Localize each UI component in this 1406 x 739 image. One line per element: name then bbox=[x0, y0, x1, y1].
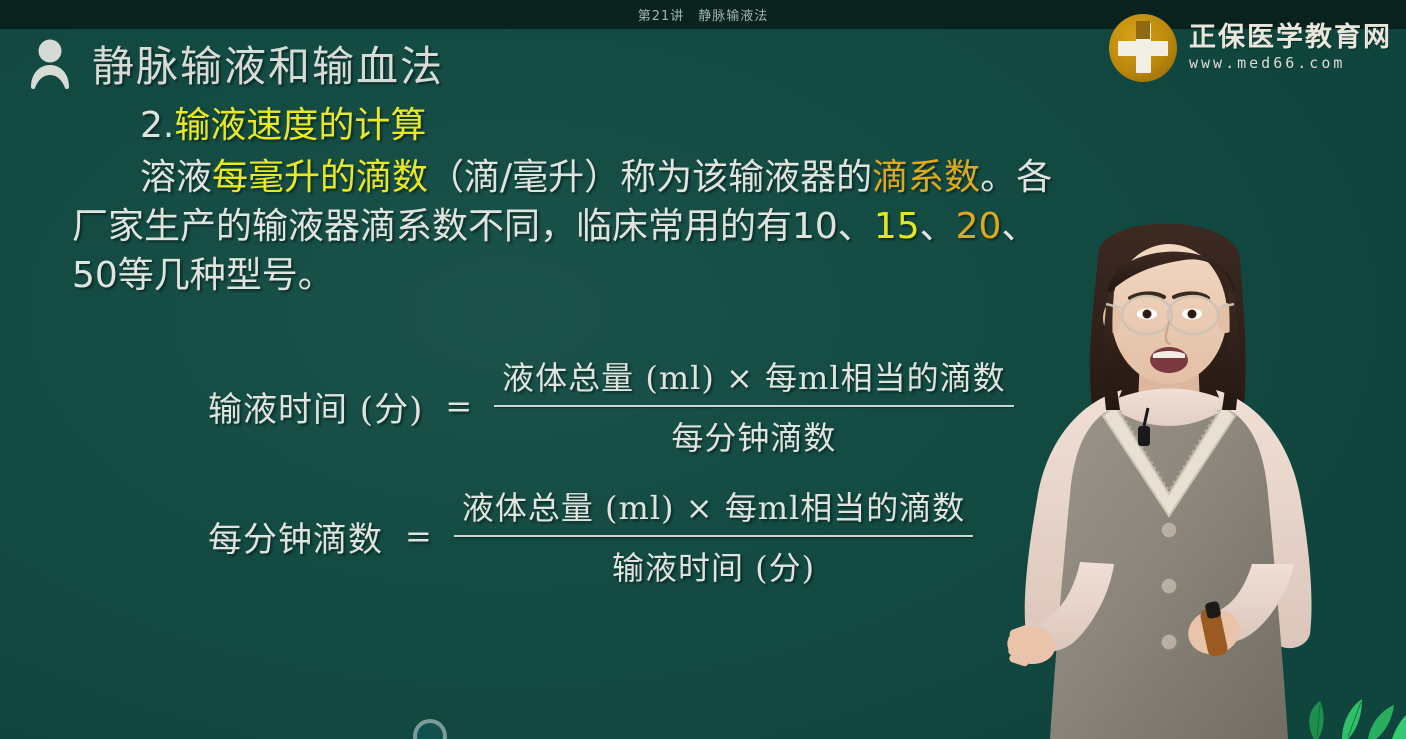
formula-drops-per-minute: 每分钟滴数 = 液体总量 (ml) × 每ml相当的滴数 输液时间 (分) bbox=[0, 482, 1100, 590]
person-icon bbox=[26, 38, 74, 90]
formula-2-numerator: 液体总量 (ml) × 每ml相当的滴数 bbox=[454, 482, 973, 530]
formula-infusion-time: 输液时间 (分) = 液体总量 (ml) × 每ml相当的滴数 每分钟滴数 bbox=[0, 352, 1100, 460]
brand-text-group: 正保医学教育网 www.med66.com bbox=[1189, 24, 1392, 72]
formula-1-denominator: 每分钟滴数 bbox=[663, 412, 844, 460]
formula-1-numerator: 液体总量 (ml) × 每ml相当的滴数 bbox=[494, 352, 1013, 400]
formula-1-equals: = bbox=[423, 387, 494, 425]
formula-2-fraction: 液体总量 (ml) × 每ml相当的滴数 输液时间 (分) bbox=[454, 482, 973, 590]
brand-logo: 正保医学教育网 www.med66.com bbox=[1109, 14, 1392, 82]
formula-2-lhs: 每分钟滴数 bbox=[208, 512, 383, 561]
brand-name: 正保医学教育网 bbox=[1189, 24, 1392, 52]
titlebar-title: 第21讲 静脉输液法 bbox=[638, 5, 769, 24]
p2-seg-5: 、 bbox=[1001, 206, 1037, 247]
formula-1-fraction: 液体总量 (ml) × 每ml相当的滴数 每分钟滴数 bbox=[494, 352, 1013, 460]
p1-seg-3: （滴/毫升）称为该输液器的 bbox=[428, 157, 872, 198]
page-title: 静脉输液和输血法 bbox=[92, 33, 444, 94]
p1-seg-1: 溶液 bbox=[140, 157, 212, 198]
slide-body: 2.输液速度的计算 溶液每毫升的滴数（滴/毫升）称为该输液器的滴系数。各 厂家生… bbox=[0, 108, 1060, 294]
formula-group: 输液时间 (分) = 液体总量 (ml) × 每ml相当的滴数 每分钟滴数 每分… bbox=[0, 352, 1100, 612]
paragraph-line-3: 50等几种型号。 bbox=[0, 258, 1060, 294]
p2-seg-4: 20 bbox=[956, 206, 1002, 247]
p2-seg-2: 15 bbox=[874, 206, 920, 247]
lecture-slide-screen: 第21讲 静脉输液法 正保医学教育网 www.med66.com 静脉输液和输血… bbox=[0, 0, 1406, 739]
formula-1-bar bbox=[494, 405, 1013, 407]
p1-seg-2: 每毫升的滴数 bbox=[212, 157, 428, 198]
p2-seg-3: 、 bbox=[920, 206, 956, 247]
paragraph-line-1: 溶液每毫升的滴数（滴/毫升）称为该输液器的滴系数。各 bbox=[0, 160, 1060, 196]
subheading-number: 2. bbox=[140, 105, 174, 146]
formula-2-equals: = bbox=[383, 517, 454, 555]
subheading: 2.输液速度的计算 bbox=[0, 108, 1060, 144]
subheading-text: 输液速度的计算 bbox=[174, 105, 426, 146]
brand-url: www.med66.com bbox=[1189, 54, 1392, 72]
paragraph-line-2: 厂家生产的输液器滴系数不同，临床常用的有10、15、20、 bbox=[0, 209, 1060, 245]
p3-seg-1: 50等几种型号。 bbox=[72, 255, 334, 296]
formula-2-denominator: 输液时间 (分) bbox=[604, 542, 823, 590]
formula-2-bar bbox=[454, 535, 973, 537]
p1-seg-4: 滴系数 bbox=[872, 157, 980, 198]
medical-cross-icon bbox=[1109, 14, 1177, 82]
slide-heading: 静脉输液和输血法 bbox=[26, 33, 444, 94]
p2-seg-1: 厂家生产的输液器滴系数不同，临床常用的有10、 bbox=[72, 206, 874, 247]
p1-seg-5: 。各 bbox=[980, 157, 1052, 198]
formula-1-lhs: 输液时间 (分) bbox=[208, 382, 423, 431]
